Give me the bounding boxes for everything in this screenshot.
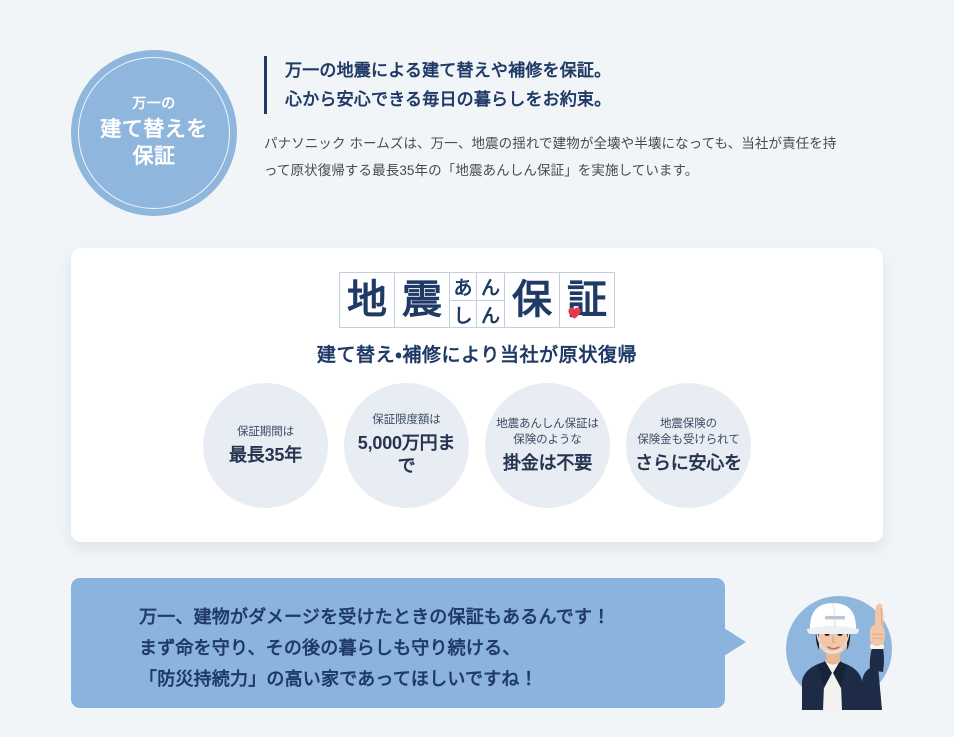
guarantee-badge: 万一の 建て替えを 保証 <box>71 50 237 216</box>
feature-circle-list: 保証期間は 最長35年 保証限度額は 5,000万円まで 地震あんしん保証は 保… <box>71 383 883 508</box>
heading-line-2: 心から安心できる毎日の暮らしをお約束。 <box>285 85 894 114</box>
feature-limit-value: 5,000万円まで <box>350 432 463 479</box>
badge-main-line1: 建て替えを <box>100 116 208 143</box>
body-line-2: って原状復帰する最長35年の「地震あんしん保証」を実施しています。 <box>264 157 894 184</box>
logo-kana-anshin-grid: あ ん し ん <box>449 272 505 328</box>
feature-insurance-caption-2: 保険金も受けられて <box>637 432 739 449</box>
expert-comment-bubble: 万一、建物がダメージを受けたときの保証もあるんです！ まず命を守り、その後の暮ら… <box>71 578 725 708</box>
heart-icon <box>568 307 581 319</box>
logo-kana-2: ん <box>477 273 504 301</box>
logo-kana-1: あ <box>450 273 477 301</box>
logo-char-ho: 保 <box>504 272 560 328</box>
logo-kana-3: し <box>450 301 477 328</box>
logo-char-jishin-2: 震 <box>394 272 450 328</box>
feature-period-value: 最長35年 <box>229 444 302 467</box>
bubble-tail <box>724 628 746 656</box>
bubble-line-2: まず命を守り、その後の暮らしも守り続ける、 <box>139 633 725 664</box>
feature-circle-no-premium: 地震あんしん保証は 保険のような 掛金は不要 <box>485 383 610 508</box>
feature-no-premium-value: 掛金は不要 <box>503 452 592 475</box>
badge-small-label: 万一の <box>132 95 176 113</box>
feature-circle-limit: 保証限度額は 5,000万円まで <box>344 383 469 508</box>
section-heading: 万一の地震による建て替えや補修を保証。 心から安心できる毎日の暮らしをお約束。 <box>264 56 894 114</box>
intro-section: 万一の 建て替えを 保証 万一の地震による建て替えや補修を保証。 心から安心でき… <box>0 0 954 232</box>
heading-line-1: 万一の地震による建て替えや補修を保証。 <box>285 56 894 85</box>
feature-no-premium-caption-1: 地震あんしん保証は <box>496 416 599 433</box>
card-subtitle: 建て替え・補修により当社が原状復帰 <box>71 340 883 367</box>
feature-circle-insurance: 地震保険の 保険金も受けられて さらに安心を <box>626 383 751 508</box>
header-text-block: 万一の地震による建て替えや補修を保証。 心から安心できる毎日の暮らしをお約束。 … <box>264 56 894 184</box>
logo-char-jishin-1: 地 <box>339 272 395 328</box>
logo-kana-4: ん <box>477 301 504 328</box>
guarantee-card: 地 震 あ ん し ん 保 証 建て替え・補修により当社が原状復帰 保証期間は … <box>71 248 883 542</box>
feature-limit-caption: 保証限度額は <box>372 412 440 429</box>
section-body: パナソニック ホームズは、万一、地震の揺れで建物が全壊や半壊になっても、当社が責… <box>264 130 894 184</box>
bubble-line-1: 万一、建物がダメージを受けたときの保証もあるんです！ <box>139 602 725 633</box>
badge-main-line2: 保証 <box>100 143 208 170</box>
logo-char-sho: 証 <box>559 272 615 328</box>
feature-insurance-value: さらに安心を <box>635 452 742 475</box>
body-line-1: パナソニック ホームズは、万一、地震の揺れで建物が全壊や半壊になっても、当社が責… <box>264 130 894 157</box>
feature-circle-period: 保証期間は 最長35年 <box>203 383 328 508</box>
bubble-body: 万一、建物がダメージを受けたときの保証もあるんです！ まず命を守り、その後の暮ら… <box>71 578 725 708</box>
feature-insurance-caption-1: 地震保険の <box>660 416 717 433</box>
jishin-anshin-hosho-logo: 地 震 あ ん し ん 保 証 <box>339 272 615 328</box>
feature-period-caption: 保証期間は <box>237 424 294 441</box>
feature-no-premium-caption-2: 保険のような <box>513 432 581 449</box>
expert-person-photo <box>762 578 912 710</box>
bubble-line-3: 「防災持続力」の高い家であってほしいですね！ <box>139 664 725 695</box>
person-figure <box>762 578 912 710</box>
badge-main-label: 建て替えを 保証 <box>100 116 208 171</box>
